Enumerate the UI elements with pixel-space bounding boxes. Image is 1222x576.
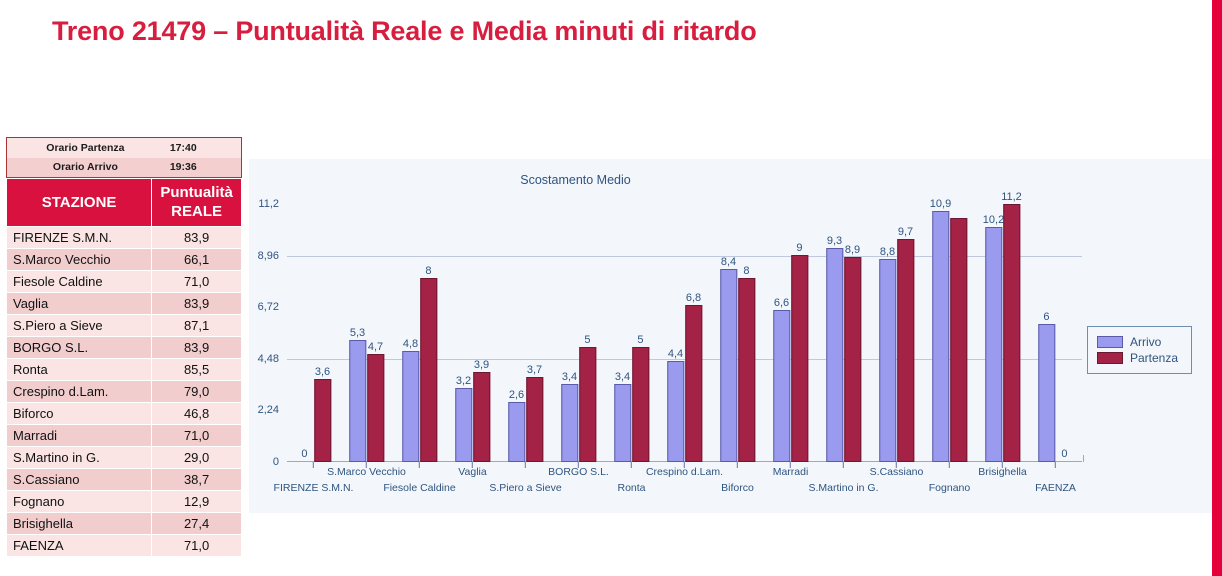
chart-data-label: 8,4 bbox=[721, 256, 736, 268]
chart-bar-partenza: 9,7 bbox=[897, 239, 914, 462]
chart-x-label-text: Biforco bbox=[721, 482, 754, 494]
legend-item-partenza: Partenza bbox=[1097, 350, 1178, 366]
cell-punctuality-value: 79,0 bbox=[152, 381, 242, 403]
chart-bar-arrivo: 3,2 bbox=[455, 388, 472, 462]
chart-bar-pair: 2,63,7 bbox=[504, 204, 547, 462]
chart-bar-partenza: 6,8 bbox=[685, 305, 702, 462]
legend-label-partenza: Partenza bbox=[1130, 351, 1178, 365]
chart-bar-group: 2,63,7 bbox=[499, 204, 552, 462]
chart-bar-arrivo: 2,6 bbox=[508, 402, 525, 462]
cell-station-name: Brisighella bbox=[7, 513, 152, 535]
chart-title-text: Scostamento Medio bbox=[520, 173, 630, 187]
chart-data-label: 4,8 bbox=[403, 338, 418, 350]
chart-bar-group: 10,9 bbox=[923, 204, 976, 462]
chart-bar-pair: 10,211,2 bbox=[981, 204, 1024, 462]
table-row: S.Cassiano38,7 bbox=[7, 469, 242, 491]
chart-data-label: 4,4 bbox=[668, 348, 683, 360]
chart-y-tick-label: 2,24 bbox=[258, 404, 279, 416]
schedule-value-departure: 17:40 bbox=[154, 138, 242, 158]
column-header-punctuality-line1: Puntualità bbox=[152, 184, 241, 203]
chart-data-label: 2,6 bbox=[509, 389, 524, 401]
cell-punctuality-value: 71,0 bbox=[152, 425, 242, 447]
chart-x-label: FAENZA bbox=[1029, 462, 1082, 508]
chart-x-label: BORGO S.L. bbox=[552, 462, 605, 508]
chart-bar-pair: 6,69 bbox=[769, 204, 812, 462]
chart-bar-pair: 8,89,7 bbox=[875, 204, 918, 462]
chart-bar-pair: 3,45 bbox=[557, 204, 600, 462]
chart-bar-arrivo: 4,4 bbox=[667, 361, 684, 462]
chart-x-label: S.Martino in G. bbox=[817, 462, 870, 508]
chart-x-label: Fognano bbox=[923, 462, 976, 508]
chart-bar-pair: 60 bbox=[1034, 204, 1077, 462]
chart-y-tick-label: 0 bbox=[273, 456, 279, 468]
chart-bar-arrivo: 8,8 bbox=[879, 259, 896, 462]
chart-data-label: 0 bbox=[1061, 448, 1067, 460]
cell-station-name: FAENZA bbox=[7, 535, 152, 557]
chart-bar-group: 5,34,7 bbox=[340, 204, 393, 462]
chart-bar-partenza: 5 bbox=[632, 347, 649, 462]
column-header-punctuality: Puntualità REALE bbox=[152, 179, 242, 227]
chart-x-label-text: Brisighella bbox=[978, 466, 1026, 478]
page-title: Treno 21479 – Puntualità Reale e Media m… bbox=[52, 16, 757, 47]
legend-swatch-partenza-icon bbox=[1097, 352, 1123, 364]
cell-punctuality-value: 46,8 bbox=[152, 403, 242, 425]
chart-x-label-text: FAENZA bbox=[1035, 482, 1076, 494]
chart-x-label: Biforco bbox=[711, 462, 764, 508]
chart-data-label: 8 bbox=[425, 265, 431, 277]
chart-data-label: 8 bbox=[743, 265, 749, 277]
chart-bar-group: 6,69 bbox=[764, 204, 817, 462]
chart-x-label: Crespino d.Lam. bbox=[658, 462, 711, 508]
chart-x-label: S.Piero a Sieve bbox=[499, 462, 552, 508]
cell-station-name: BORGO S.L. bbox=[7, 337, 152, 359]
table-row: Vaglia83,9 bbox=[7, 293, 242, 315]
chart-data-label: 0 bbox=[301, 448, 307, 460]
chart-bar-group: 4,46,8 bbox=[658, 204, 711, 462]
cell-station-name: Vaglia bbox=[7, 293, 152, 315]
chart-bar-partenza bbox=[950, 218, 967, 462]
chart-data-label: 6,6 bbox=[774, 297, 789, 309]
chart-bar-partenza: 3,6 bbox=[314, 379, 331, 462]
chart-bar-pair: 5,34,7 bbox=[345, 204, 388, 462]
chart-bar-group: 60 bbox=[1029, 204, 1082, 462]
cell-station-name: Marradi bbox=[7, 425, 152, 447]
table-row: Crespino d.Lam.79,0 bbox=[7, 381, 242, 403]
chart-bar-group: 8,89,7 bbox=[870, 204, 923, 462]
chart-bar-pair: 9,38,9 bbox=[822, 204, 865, 462]
cell-station-name: Fiesole Caldine bbox=[7, 271, 152, 293]
chart-x-axis-labels: FIRENZE S.M.N.S.Marco VecchioFiesole Cal… bbox=[287, 462, 1082, 508]
chart-bar-arrivo: 8,4 bbox=[720, 269, 737, 463]
chart-data-label: 11,2 bbox=[1001, 191, 1022, 203]
cell-station-name: Ronta bbox=[7, 359, 152, 381]
table-row: Fognano12,9 bbox=[7, 491, 242, 513]
table-row: S.Marco Vecchio66,1 bbox=[7, 249, 242, 271]
cell-punctuality-value: 12,9 bbox=[152, 491, 242, 513]
chart-bar-group: 8,48 bbox=[711, 204, 764, 462]
cell-station-name: S.Piero a Sieve bbox=[7, 315, 152, 337]
cell-punctuality-value: 66,1 bbox=[152, 249, 242, 271]
chart-bar-partenza: 3,7 bbox=[526, 377, 543, 462]
table-row: Fiesole Caldine71,0 bbox=[7, 271, 242, 293]
chart-x-axis-end-tick bbox=[1083, 455, 1084, 462]
chart-data-label: 9,7 bbox=[898, 226, 913, 238]
chart-bar-partenza: 8,9 bbox=[844, 257, 861, 462]
chart-bar-partenza: 8 bbox=[420, 278, 437, 462]
chart-x-label: Brisighella bbox=[976, 462, 1029, 508]
cell-punctuality-value: 83,9 bbox=[152, 227, 242, 249]
chart-data-label: 3,4 bbox=[615, 371, 630, 383]
chart-data-label: 6,8 bbox=[686, 292, 701, 304]
chart-y-tick-label: 6,72 bbox=[258, 301, 279, 313]
schedule-info-table: Orario Partenza 17:40 Orario Arrivo 19:3… bbox=[6, 137, 242, 178]
chart-data-label: 3,4 bbox=[562, 371, 577, 383]
chart-bar-partenza: 3,9 bbox=[473, 372, 490, 462]
chart-x-label-text: Fiesole Caldine bbox=[383, 482, 455, 494]
chart-bar-groups: 03,65,34,74,883,23,92,63,73,453,454,46,8… bbox=[287, 204, 1082, 462]
schedule-label-arrival: Orario Arrivo bbox=[7, 158, 154, 178]
chart-bar-arrivo: 9,3 bbox=[826, 248, 843, 462]
chart-y-tick-label: 8,96 bbox=[258, 250, 279, 262]
chart-data-label: 3,6 bbox=[315, 366, 330, 378]
chart-x-label-text: S.Piero a Sieve bbox=[489, 482, 561, 494]
chart-bar-partenza: 5 bbox=[579, 347, 596, 462]
cell-punctuality-value: 83,9 bbox=[152, 337, 242, 359]
chart-title: Scostamento Medio bbox=[249, 173, 1212, 187]
cell-station-name: Biforco bbox=[7, 403, 152, 425]
chart-data-label: 10,2 bbox=[983, 214, 1004, 226]
chart-data-label: 5 bbox=[637, 334, 643, 346]
chart-x-label: S.Cassiano bbox=[870, 462, 923, 508]
chart-bar-arrivo: 4,8 bbox=[402, 351, 419, 462]
chart-data-label: 10,9 bbox=[930, 198, 951, 210]
chart-bar-pair: 3,45 bbox=[610, 204, 653, 462]
table-row: Marradi71,0 bbox=[7, 425, 242, 447]
chart-x-label-text: Ronta bbox=[617, 482, 645, 494]
chart-bar-group: 10,211,2 bbox=[976, 204, 1029, 462]
chart-bar-partenza: 11,2 bbox=[1003, 204, 1020, 462]
table-row: Brisighella27,4 bbox=[7, 513, 242, 535]
table-row: BORGO S.L.83,9 bbox=[7, 337, 242, 359]
table-row: S.Martino in G.29,0 bbox=[7, 447, 242, 469]
chart-bar-pair: 4,46,8 bbox=[663, 204, 706, 462]
slide-canvas: Treno 21479 – Puntualità Reale e Media m… bbox=[0, 0, 1222, 576]
chart-data-label: 6 bbox=[1043, 311, 1049, 323]
chart-bar-arrivo: 6 bbox=[1038, 324, 1055, 462]
right-accent-bar bbox=[1212, 0, 1222, 576]
chart-x-label-text: Fognano bbox=[929, 482, 970, 494]
chart-bar-arrivo: 3,4 bbox=[614, 384, 631, 462]
chart-data-label: 4,7 bbox=[368, 341, 383, 353]
cell-punctuality-value: 87,1 bbox=[152, 315, 242, 337]
chart-x-label-text: BORGO S.L. bbox=[548, 466, 609, 478]
cell-station-name: Fognano bbox=[7, 491, 152, 513]
table-row: Orario Arrivo 19:36 bbox=[7, 158, 242, 178]
schedule-info-body: Orario Partenza 17:40 Orario Arrivo 19:3… bbox=[7, 138, 242, 178]
chart-bar-partenza: 4,7 bbox=[367, 354, 384, 462]
chart-data-label: 8,8 bbox=[880, 246, 895, 258]
schedule-value-arrival: 19:36 bbox=[154, 158, 242, 178]
cell-punctuality-value: 85,5 bbox=[152, 359, 242, 381]
table-row: FAENZA71,0 bbox=[7, 535, 242, 557]
chart-data-label: 3,9 bbox=[474, 359, 489, 371]
chart-data-label: 9,3 bbox=[827, 235, 842, 247]
chart-bar-group: 3,23,9 bbox=[446, 204, 499, 462]
chart-legend: Arrivo Partenza bbox=[1087, 326, 1192, 374]
table-row: FIRENZE S.M.N.83,9 bbox=[7, 227, 242, 249]
cell-station-name: S.Martino in G. bbox=[7, 447, 152, 469]
chart-bar-arrivo: 3,4 bbox=[561, 384, 578, 462]
chart-data-label: 8,9 bbox=[845, 244, 860, 256]
chart-x-label-text: Marradi bbox=[773, 466, 809, 478]
station-punctuality-table: STAZIONE Puntualità REALE FIRENZE S.M.N.… bbox=[6, 178, 242, 557]
chart-data-label: 5 bbox=[584, 334, 590, 346]
chart-bar-pair: 03,6 bbox=[292, 204, 335, 462]
cell-station-name: S.Cassiano bbox=[7, 469, 152, 491]
scostamento-medio-chart: Scostamento Medio 02,244,486,728,9611,2 … bbox=[249, 159, 1212, 513]
cell-punctuality-value: 71,0 bbox=[152, 535, 242, 557]
cell-punctuality-value: 38,7 bbox=[152, 469, 242, 491]
chart-bar-group: 3,45 bbox=[552, 204, 605, 462]
chart-x-label-text: Vaglia bbox=[458, 466, 486, 478]
cell-punctuality-value: 27,4 bbox=[152, 513, 242, 535]
chart-data-label: 9 bbox=[796, 242, 802, 254]
chart-bar-group: 3,45 bbox=[605, 204, 658, 462]
chart-data-label: 3,2 bbox=[456, 375, 471, 387]
chart-bar-arrivo: 10,9 bbox=[932, 211, 949, 462]
chart-bar-group: 4,88 bbox=[393, 204, 446, 462]
table-row: Biforco46,8 bbox=[7, 403, 242, 425]
cell-punctuality-value: 71,0 bbox=[152, 271, 242, 293]
column-header-punctuality-line2: REALE bbox=[152, 203, 241, 222]
chart-bar-group: 03,6 bbox=[287, 204, 340, 462]
cell-station-name: Crespino d.Lam. bbox=[7, 381, 152, 403]
chart-x-label-text: S.Cassiano bbox=[870, 466, 924, 478]
table-row: Ronta85,5 bbox=[7, 359, 242, 381]
cell-punctuality-value: 29,0 bbox=[152, 447, 242, 469]
legend-swatch-arrivo-icon bbox=[1097, 336, 1123, 348]
chart-bar-pair: 3,23,9 bbox=[451, 204, 494, 462]
station-table-header: STAZIONE Puntualità REALE bbox=[7, 179, 242, 227]
chart-bar-arrivo: 10,2 bbox=[985, 227, 1002, 462]
chart-data-label: 3,7 bbox=[527, 364, 542, 376]
chart-bar-partenza: 9 bbox=[791, 255, 808, 462]
chart-bar-partenza: 8 bbox=[738, 278, 755, 462]
chart-bar-arrivo: 6,6 bbox=[773, 310, 790, 462]
chart-bar-pair: 8,48 bbox=[716, 204, 759, 462]
table-row: Orario Partenza 17:40 bbox=[7, 138, 242, 158]
cell-station-name: S.Marco Vecchio bbox=[7, 249, 152, 271]
chart-data-label: 5,3 bbox=[350, 327, 365, 339]
legend-item-arrivo: Arrivo bbox=[1097, 334, 1178, 350]
cell-punctuality-value: 83,9 bbox=[152, 293, 242, 315]
legend-label-arrivo: Arrivo bbox=[1130, 335, 1161, 349]
chart-y-tick-label: 11,2 bbox=[258, 198, 279, 210]
table-header-row: STAZIONE Puntualità REALE bbox=[7, 179, 242, 227]
table-row: S.Piero a Sieve87,1 bbox=[7, 315, 242, 337]
column-header-station: STAZIONE bbox=[7, 179, 152, 227]
chart-y-tick-label: 4,48 bbox=[258, 353, 279, 365]
chart-bar-arrivo: 5,3 bbox=[349, 340, 366, 462]
chart-plot-area: 02,244,486,728,9611,2 03,65,34,74,883,23… bbox=[287, 204, 1082, 462]
chart-bar-group: 9,38,9 bbox=[817, 204, 870, 462]
chart-x-label-text: S.Martino in G. bbox=[808, 482, 878, 494]
cell-station-name: FIRENZE S.M.N. bbox=[7, 227, 152, 249]
chart-bar-pair: 10,9 bbox=[928, 204, 971, 462]
station-table-body: FIRENZE S.M.N.83,9S.Marco Vecchio66,1Fie… bbox=[7, 227, 242, 557]
chart-x-label: Fiesole Caldine bbox=[393, 462, 446, 508]
schedule-label-departure: Orario Partenza bbox=[7, 138, 154, 158]
chart-bar-pair: 4,88 bbox=[398, 204, 441, 462]
